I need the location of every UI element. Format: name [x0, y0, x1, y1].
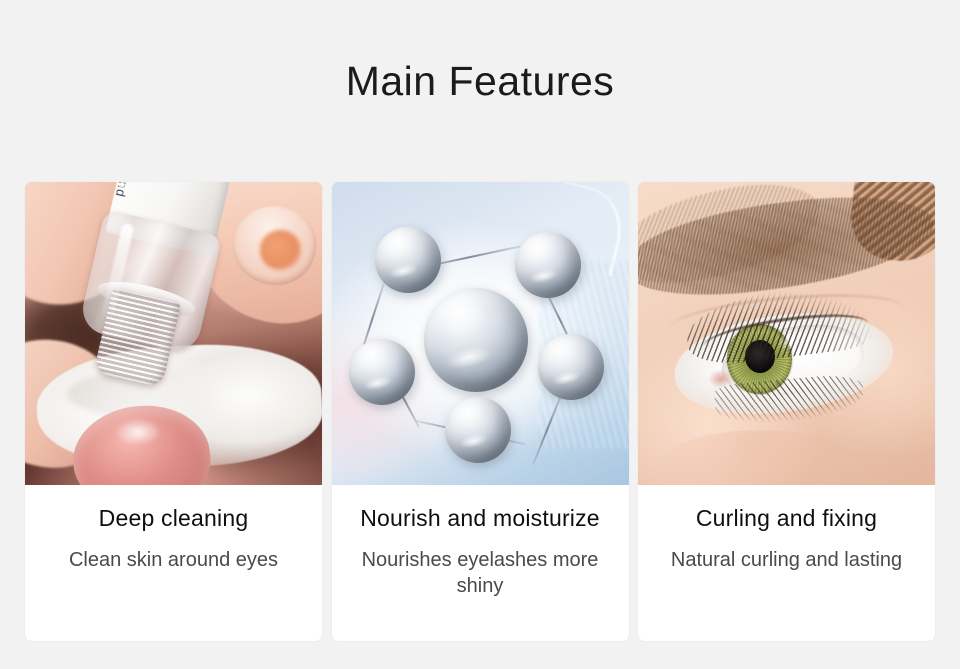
molecule-illustration: [332, 182, 629, 485]
molecule-sphere-center: [424, 288, 528, 392]
vial-label-text: Second: [113, 182, 139, 198]
molecule-sphere-left: [349, 339, 415, 405]
page-title: Main Features: [0, 56, 960, 106]
feature-image-deep-cleaning: Second: [25, 182, 322, 485]
card-subtext: Nourishes eyelashes more shiny: [332, 547, 629, 599]
card-subtext: Natural curling and lasting: [638, 547, 935, 573]
feature-card-curling-and-fixing[interactable]: Curling and fixing Natural curling and l…: [638, 182, 935, 641]
feature-image-curling-and-fixing: [638, 182, 935, 485]
card-text-curling-and-fixing: Curling and fixing Natural curling and l…: [638, 485, 935, 641]
card-text-deep-cleaning: Deep cleaning Clean skin around eyes: [25, 485, 322, 641]
card-heading: Deep cleaning: [25, 503, 322, 533]
fingernail-tip-highlight: [260, 230, 302, 269]
feature-card-deep-cleaning[interactable]: Second Deep cleaning Clean skin around e…: [25, 182, 322, 641]
feature-section: Main Features: [0, 0, 960, 669]
feature-card-row: Second Deep cleaning Clean skin around e…: [25, 182, 935, 641]
card-text-nourish-and-moisturize: Nourish and moisturize Nourishes eyelash…: [332, 485, 629, 641]
molecule-sphere-top-left: [375, 227, 441, 293]
molecule-sphere-bottom: [445, 397, 511, 463]
feature-image-nourish-and-moisturize: [332, 182, 629, 485]
card-subtext: Clean skin around eyes: [25, 547, 322, 573]
molecule-sphere-top-right: [515, 232, 581, 298]
molecule-sphere-right: [538, 334, 604, 400]
card-heading: Nourish and moisturize: [332, 503, 629, 533]
feature-card-nourish-and-moisturize[interactable]: Nourish and moisturize Nourishes eyelash…: [332, 182, 629, 641]
card-heading: Curling and fixing: [638, 503, 935, 533]
thumb-gloss-highlight: [114, 418, 162, 445]
vial-illustration: Second: [25, 182, 322, 485]
eye-illustration: [638, 182, 935, 485]
